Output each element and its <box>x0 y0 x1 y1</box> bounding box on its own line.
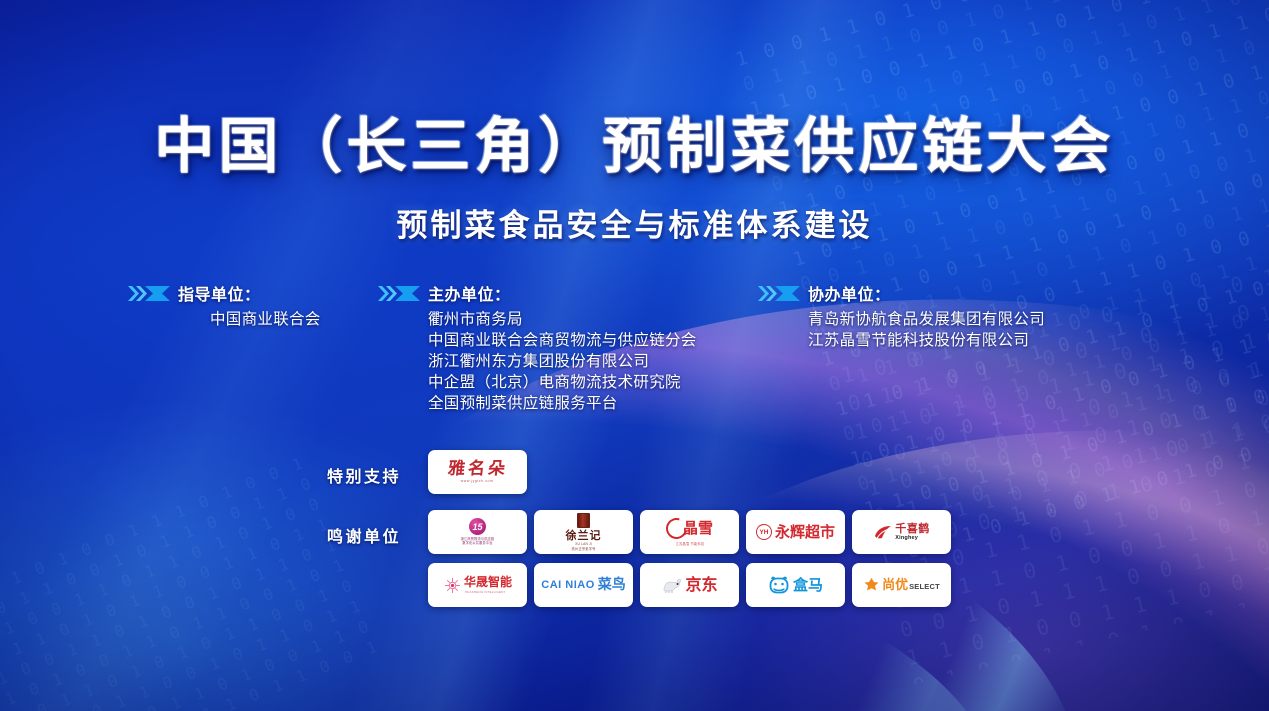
org-heading-host: 主办单位： <box>378 281 697 305</box>
logo-text: 晶雪 <box>683 521 713 536</box>
logo-tile-zhejiang-shangmao[interactable]: 15 浙江商贸物流与供应链 数字化公共服务平台 <box>428 510 527 554</box>
logo-text: 盒马 <box>793 578 823 593</box>
chevron-arrow-icon <box>378 285 420 302</box>
logo-tile-hema[interactable]: 盒马 <box>746 563 845 607</box>
org-item: 中国商业联合会 <box>210 309 321 330</box>
org-item: 衢州市商务局 <box>428 309 697 330</box>
logo-mark: 15 <box>469 518 486 535</box>
logo-mark-hippo-icon <box>768 576 790 595</box>
logo-subtext: CAI NIAO <box>541 580 595 590</box>
logo-tile-yonghui[interactable]: YH 永辉超市 <box>746 510 845 554</box>
org-heading-guide: 指导单位： <box>128 281 321 305</box>
sponsor-label-thanks: 鸣谢单位 <box>327 523 401 547</box>
logo-text: 尚优 <box>882 579 908 592</box>
logo-yonghui: YH 永辉超市 <box>746 510 845 554</box>
org-block-guide: 指导单位： 中国商业联合会 <box>128 281 321 330</box>
logo-text: 雅名朵 <box>447 461 509 478</box>
logo-mark <box>873 524 892 541</box>
logo-mark: YH <box>756 524 772 540</box>
org-block-cohost: 协办单位： 青岛新协航食品发展集团有限公司 江苏晶雪节能科技股份有限公司 <box>758 281 1045 351</box>
page-title: 中国（长三角）预制菜供应链大会 <box>0 98 1269 185</box>
logo-text: 华晟智能 <box>464 576 512 588</box>
org-block-host: 主办单位： 衢州市商务局 中国商业联合会商贸物流与供应链分会 浙江衢州东方集团股… <box>378 281 697 414</box>
org-label-guide: 指导单位： <box>178 281 261 305</box>
logo-shangyou: 尚优 SELECT <box>852 563 951 607</box>
logo-subtext: XU LAN JI 杭州正宗老字号 <box>571 542 595 551</box>
logo-tile-cainiao[interactable]: CAI NIAO 菜鸟 <box>534 563 633 607</box>
org-list-guide: 中国商业联合会 <box>128 309 321 330</box>
logo-jingdong: 京东 <box>640 563 739 607</box>
logo-mark-joy-dog-icon <box>661 576 683 594</box>
logo-tile-shangyou[interactable]: 尚优 SELECT <box>852 563 951 607</box>
conference-poster: 1 0 0 1 1 0 1 0 0 1 1 1 0 1 0 0 1 1 0 10… <box>0 0 1269 711</box>
logo-subtext: HUASHENG INTELLIGENT <box>465 590 506 594</box>
org-item: 中国商业联合会商贸物流与供应链分会 <box>428 330 697 351</box>
logo-mark <box>863 577 880 594</box>
logo-huasheng: 华晟智能 HUASHENG INTELLIGENT <box>428 563 527 607</box>
chevron-arrow-icon <box>758 285 800 302</box>
logo-mark <box>443 576 462 595</box>
org-list-cohost: 青岛新协航食品发展集团有限公司 江苏晶雪节能科技股份有限公司 <box>758 309 1045 351</box>
org-heading-cohost: 协办单位： <box>758 281 1045 305</box>
org-item: 全国预制菜供应链服务平台 <box>428 393 697 414</box>
page-subtitle: 预制菜食品安全与标准体系建设 <box>0 200 1269 245</box>
logo-subtext: www.jygtzh.com <box>461 479 494 484</box>
logo-tile-jingxue[interactable]: 晶雪 江苏晶雪 节能科技 <box>640 510 739 554</box>
logo-text: 菜鸟 <box>598 578 626 592</box>
logo-zhejiang-shangmao: 15 浙江商贸物流与供应链 数字化公共服务平台 <box>428 510 527 554</box>
org-item: 中企盟（北京）电商物流技术研究院 <box>428 372 697 393</box>
sponsor-label-special-support: 特别支持 <box>327 463 401 487</box>
org-label-cohost: 协办单位： <box>808 281 891 305</box>
chevron-arrow-icon <box>128 285 170 302</box>
logo-subtext: 浙江商贸物流与供应链 数字化公共服务平台 <box>461 537 495 546</box>
org-item: 浙江衢州东方集团股份有限公司 <box>428 351 697 372</box>
logo-subtext: Xinghey <box>895 536 918 542</box>
logo-tile-qianxihe[interactable]: 千喜鹤 Xinghey <box>852 510 951 554</box>
logo-tile-jingdong[interactable]: 京东 <box>640 563 739 607</box>
logo-yamingduo: 雅名朵 www.jygtzh.com <box>428 450 527 494</box>
org-item: 青岛新协航食品发展集团有限公司 <box>808 309 1045 330</box>
logo-hema: 盒马 <box>746 563 845 607</box>
logo-text: 徐兰记 <box>566 530 602 541</box>
org-item: 江苏晶雪节能科技股份有限公司 <box>808 330 1045 351</box>
logo-subtext: 江苏晶雪 节能科技 <box>675 542 704 546</box>
logo-xulanji: 徐兰记 XU LAN JI 杭州正宗老字号 <box>534 510 633 554</box>
org-list-host: 衢州市商务局 中国商业联合会商贸物流与供应链分会 浙江衢州东方集团股份有限公司 … <box>378 309 697 414</box>
logo-mark <box>577 513 590 528</box>
logo-text: 千喜鹤 <box>895 523 930 534</box>
logo-subtext: SELECT <box>909 582 940 591</box>
logo-tile-huasheng[interactable]: 华晟智能 HUASHENG INTELLIGENT <box>428 563 527 607</box>
logo-tile-xulanji[interactable]: 徐兰记 XU LAN JI 杭州正宗老字号 <box>534 510 633 554</box>
org-label-host: 主办单位： <box>428 281 511 305</box>
logo-jingxue: 晶雪 江苏晶雪 节能科技 <box>640 510 739 554</box>
logo-text: 永辉超市 <box>775 525 835 540</box>
logo-qianxihe: 千喜鹤 Xinghey <box>852 510 951 554</box>
logo-cainiao: CAI NIAO 菜鸟 <box>534 563 633 607</box>
logo-text: 京东 <box>685 577 717 593</box>
logo-tile-yamingduo[interactable]: 雅名朵 www.jygtzh.com <box>428 450 527 494</box>
